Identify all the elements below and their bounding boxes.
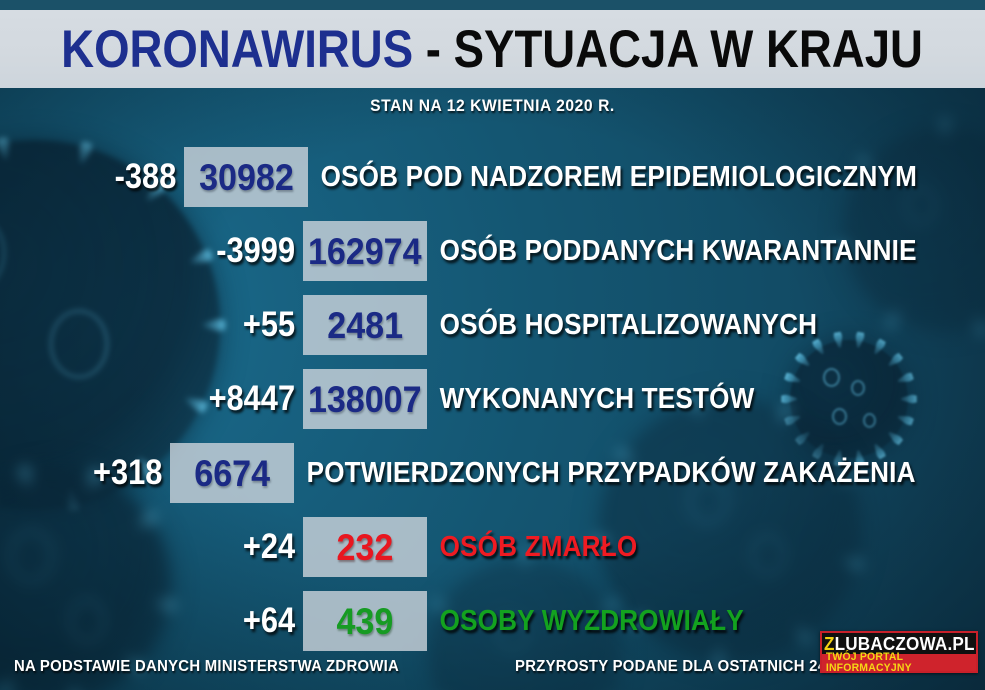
stat-row: +55 2481 OSÓB HOSPITALIZOWANYCH	[0, 288, 985, 362]
stat-value-box: 6674	[170, 443, 294, 503]
stat-value: 232	[337, 529, 394, 566]
stat-value-box: 162974	[303, 221, 427, 281]
logo-tagline-band: TWÓJ PORTAL INFORMACYJNY	[822, 654, 976, 671]
stat-delta: +318	[20, 453, 170, 493]
stat-row: +318 6674 POTWIERDZONYCH PRZYPADKÓW ZAKA…	[0, 436, 985, 510]
footer-note: PRZYROSTY PODANE DLA OSTATNICH 24H	[515, 658, 837, 676]
stat-row: +8447 138007 WYKONANYCH TESTÓW	[0, 362, 985, 436]
stat-delta: -3999	[36, 231, 303, 271]
stat-label: WYKONANYCH TESTÓW	[427, 383, 754, 416]
stat-value: 6674	[194, 455, 270, 492]
page-title: KORONAWIRUS - SYTUACJA W KRAJU	[62, 23, 924, 76]
stat-label: OSÓB POD NADZOREM EPIDEMIOLOGICZNYM	[308, 161, 917, 194]
stat-value: 30982	[199, 159, 294, 196]
page-title-rest: - SYTUACJA W KRAJU	[414, 20, 924, 79]
stat-delta: +8447	[36, 379, 303, 419]
stat-value-box: 439	[303, 591, 427, 651]
stat-delta: +64	[36, 601, 303, 641]
stat-value-box: 232	[303, 517, 427, 577]
stat-label: OSÓB PODDANYCH KWARANTANNIE	[427, 235, 917, 268]
stat-delta: -388	[22, 157, 184, 197]
stat-value: 2481	[327, 307, 403, 344]
stat-label: OSOBY WYZDROWIAŁY	[427, 605, 744, 638]
stat-label: POTWIERDZONYCH PRZYPADKÓW ZAKAŻENIA	[294, 457, 916, 490]
stat-value-box: 30982	[184, 147, 308, 207]
footer-source: NA PODSTAWIE DANYCH MINISTERSTWA ZDROWIA	[14, 658, 399, 676]
title-band: KORONAWIRUS - SYTUACJA W KRAJU	[0, 10, 985, 88]
stat-value-box: 138007	[303, 369, 427, 429]
stat-delta: +55	[36, 305, 303, 345]
stat-label: OSÓB ZMARŁO	[427, 531, 637, 564]
stat-row: -388 30982 OSÓB POD NADZOREM EPIDEMIOLOG…	[0, 140, 985, 214]
stat-value: 162974	[308, 233, 422, 270]
stat-value: 439	[337, 603, 394, 640]
stat-row: -3999 162974 OSÓB PODDANYCH KWARANTANNIE	[0, 214, 985, 288]
page-title-highlight: KORONAWIRUS	[62, 20, 414, 79]
logo-tagline: TWÓJ PORTAL INFORMACYJNY	[826, 652, 972, 674]
top-strip	[0, 0, 985, 10]
stat-value-box: 2481	[303, 295, 427, 355]
publisher-logo: ZLUBACZOWA.PL TWÓJ PORTAL INFORMACYJNY	[820, 631, 978, 673]
stat-value: 138007	[308, 381, 422, 418]
stat-row-deaths: +24 232 OSÓB ZMARŁO	[0, 510, 985, 584]
infographic-poster: KORONAWIRUS - SYTUACJA W KRAJU STAN NA 1…	[0, 0, 985, 690]
stats-list: -388 30982 OSÓB POD NADZOREM EPIDEMIOLOG…	[0, 140, 985, 658]
date-stamp: STAN NA 12 KWIETNIA 2020 R.	[39, 96, 945, 116]
stat-label: OSÓB HOSPITALIZOWANYCH	[427, 309, 817, 342]
stat-delta: +24	[36, 527, 303, 567]
